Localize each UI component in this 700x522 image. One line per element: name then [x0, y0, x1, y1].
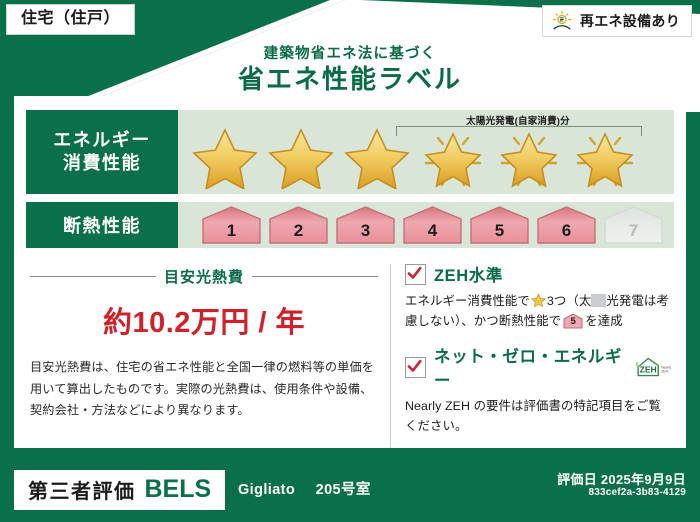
insulation-level-1: 1	[200, 205, 263, 245]
utility-cost-heading: 目安光熱費	[30, 266, 378, 287]
building-type-label: 住宅（住戸）	[21, 10, 120, 27]
zeh-standard-text-1: エネルギー消費性能で	[405, 294, 530, 308]
insulation-caption-label: 断熱性能	[63, 212, 141, 238]
insulation-level-2-number: 2	[267, 221, 330, 241]
lower-columns: 目安光熱費 約10.2万円 / 年 目安光熱費は、住宅の省エネ性能と全国一律の燃…	[24, 262, 676, 458]
insulation-level-4: 4	[401, 205, 464, 245]
insulation-level-5: 5	[468, 205, 531, 245]
zeh-standard-text-5: を達成	[585, 314, 622, 328]
label-footer: 第三者評価 BELS Gigliato 205号室 評価日 2025年9月9日 …	[0, 456, 700, 522]
heading-rule-right	[252, 276, 378, 278]
insulation-caption: 断熱性能	[26, 202, 178, 248]
insulation-level-3: 3	[334, 205, 397, 245]
inline-star-icon	[531, 293, 546, 308]
utility-cost-column: 目安光熱費 約10.2万円 / 年 目安光熱費は、住宅の省エネ性能と全国一律の燃…	[24, 262, 384, 458]
svg-text:ZEH: ZEH	[661, 370, 668, 374]
zeh-netzero-title: ネット・ゼロ・エネルギー	[434, 343, 625, 391]
zeh-column: ZEH水準 エネルギー消費性能で3つ（太光発電は考慮しない）、かつ断熱性能で5を…	[397, 262, 676, 458]
sun-icon	[551, 10, 573, 32]
renewable-equipment-badge: 再エネ設備あり	[542, 5, 692, 37]
building-name: Gigliato	[238, 482, 295, 498]
insulation-level-list: 1 2 3	[178, 205, 665, 245]
check-icon	[407, 359, 422, 374]
star-2	[264, 125, 338, 189]
zeh-netzero-block: ネット・ゼロ・エネルギー ZEH Nearly ZEH Nearly ZEH の…	[405, 343, 672, 436]
utility-cost-heading-label: 目安光熱費	[164, 266, 244, 287]
insulation-level-1-number: 1	[200, 221, 263, 241]
evaluation-date: 評価日 2025年9月9日	[557, 469, 686, 488]
energy-caption-line2: 消費性能	[63, 152, 141, 175]
insulation-performance-row: 断熱性能	[26, 194, 674, 248]
energy-star-panel: 太陽光発電(自家消費)分	[178, 110, 674, 194]
zeh-house-logo-icon: ZEH Nearly ZEH	[635, 355, 672, 379]
inline-house-level: 5	[563, 314, 583, 329]
energy-caption-line1: エネルギー	[53, 129, 151, 152]
insulation-level-5-number: 5	[468, 221, 531, 241]
insulation-level-6-number: 6	[535, 221, 598, 241]
zeh-standard-text: エネルギー消費性能で3つ（太光発電は考慮しない）、かつ断熱性能で5を達成	[405, 291, 672, 331]
insulation-level-7-number: 7	[602, 221, 665, 241]
zeh-standard-checkbox[interactable]	[405, 264, 426, 285]
zeh-standard-text-3: 光発電	[606, 294, 643, 308]
insulation-level-7: 7	[602, 205, 665, 245]
star-4-solar	[416, 125, 490, 189]
insulation-level-4-number: 4	[401, 221, 464, 241]
utility-cost-value: 約10.2万円 / 年	[30, 299, 378, 341]
building-type-tab: 住宅（住戸）	[6, 4, 135, 35]
title-subtitle: 建築物省エネ法に基づく	[0, 42, 700, 63]
room-number: 205号室	[316, 482, 371, 498]
heading-rule-left	[30, 276, 156, 278]
third-party-evaluation-badge: 第三者評価 BELS	[14, 470, 225, 510]
zeh-netzero-heading: ネット・ゼロ・エネルギー ZEH Nearly ZEH	[405, 343, 672, 391]
energy-performance-label: 住宅（住戸） 再エネ設備あり 建築物省エネ法に基づく 省エネ性能ラベル エネルギ…	[0, 0, 700, 522]
zeh-standard-heading: ZEH水準	[405, 262, 672, 286]
main-content-card: エネルギー 消費性能 太陽光発電(自家消費)分	[14, 96, 686, 448]
inline-house-badge-icon: 5	[563, 313, 583, 329]
star-1	[188, 125, 262, 189]
building-info: Gigliato 205号室	[238, 478, 371, 499]
bels-logo-text: BELS	[145, 475, 212, 504]
star-5-solar	[492, 125, 566, 189]
third-party-evaluation-label: 第三者評価	[28, 475, 136, 504]
insulation-level-6: 6	[535, 205, 598, 245]
redacted-character	[591, 294, 606, 307]
utility-cost-note: 目安光熱費は、住宅の省エネ性能と全国一律の燃料等の単価を用いて算出したものです。…	[30, 357, 378, 422]
label-title: 建築物省エネ法に基づく 省エネ性能ラベル	[0, 42, 700, 94]
insulation-level-3-number: 3	[334, 221, 397, 241]
zeh-standard-block: ZEH水準 エネルギー消費性能で3つ（太光発電は考慮しない）、かつ断熱性能で5を…	[405, 262, 672, 331]
star-3	[340, 125, 414, 189]
zeh-netzero-text: Nearly ZEH の要件は評価書の特記項目をご覧ください。	[405, 396, 672, 436]
energy-performance-caption: エネルギー 消費性能	[26, 110, 178, 194]
renewable-badge-label: 再エネ設備あり	[580, 11, 680, 31]
svg-text:ZEH: ZEH	[639, 365, 656, 375]
check-icon	[407, 266, 422, 281]
energy-star-list	[178, 125, 642, 189]
energy-performance-row: エネルギー 消費性能 太陽光発電(自家消費)分	[26, 96, 674, 194]
column-divider	[390, 264, 391, 448]
insulation-level-2: 2	[267, 205, 330, 245]
star-6-solar	[568, 125, 642, 189]
insulation-level-panel: 1 2 3	[178, 202, 674, 248]
zeh-standard-title: ZEH水準	[434, 262, 503, 286]
zeh-netzero-checkbox[interactable]	[405, 357, 426, 378]
title-main: 省エネ性能ラベル	[0, 65, 700, 94]
zeh-standard-text-2: 3つ（太	[547, 294, 591, 308]
evaluation-id: 833cef2a-3b83-4129	[588, 487, 686, 498]
